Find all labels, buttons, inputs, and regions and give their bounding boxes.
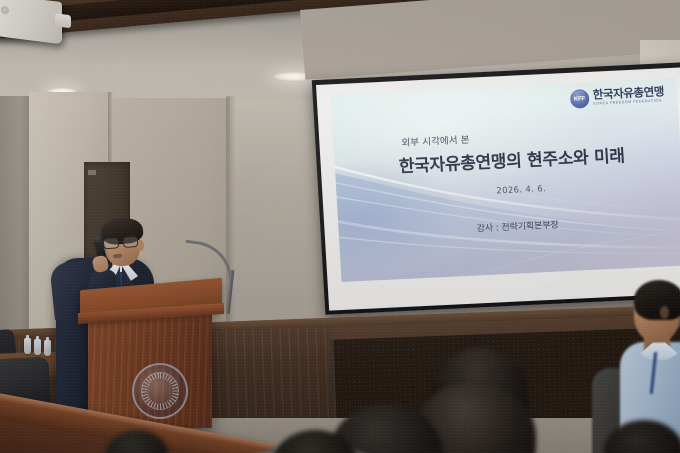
attendee-right-ear [660, 306, 669, 319]
glasses-lens-left [103, 237, 120, 249]
water-bottle [34, 339, 41, 355]
podium-emblem-icon [132, 363, 188, 419]
podium-emblem-ring [137, 368, 183, 414]
water-bottle [44, 340, 51, 356]
projected-slide: KFF 한국자유총연맹 KOREA FREEDOM FEDERATION 외부 … [331, 78, 680, 282]
glasses-lens-right [123, 236, 139, 248]
kff-wordmark: 한국자유총연맹 KOREA FREEDOM FEDERATION [592, 87, 664, 107]
speaker-cone [1, 6, 9, 15]
slide-wave-graphic [331, 78, 680, 282]
water-bottle [24, 338, 31, 354]
door-plate [88, 170, 96, 175]
projection-screen: KFF 한국자유총연맹 KOREA FREEDOM FEDERATION 외부 … [316, 67, 680, 310]
kff-emblem-icon: KFF [569, 89, 589, 109]
ceiling-speaker-icon [0, 0, 62, 44]
presentation-photo: KFF 한국자유총연맹 KOREA FREEDOM FEDERATION 외부 … [0, 0, 680, 453]
attendee-right-hair [634, 280, 680, 320]
kff-mark-text: KFF [569, 89, 589, 109]
screen-surface: KFF 한국자유총연맹 KOREA FREEDOM FEDERATION 외부 … [316, 67, 680, 310]
